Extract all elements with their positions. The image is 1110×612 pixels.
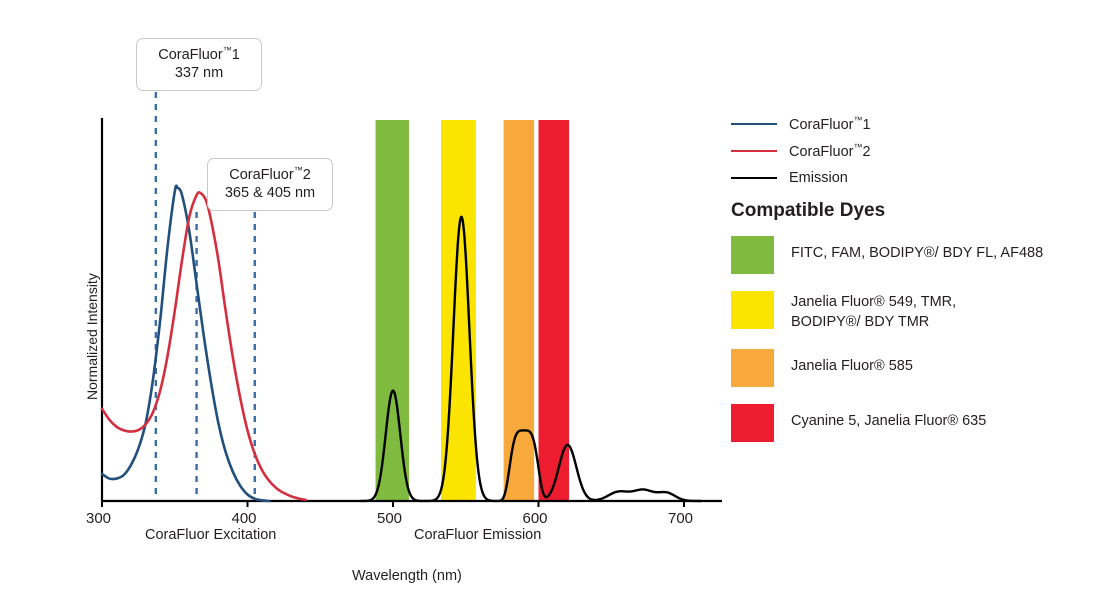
dye-item-label: Cyanine 5, Janelia Fluor® 635: [791, 404, 986, 432]
legend-line-swatch: [731, 123, 777, 125]
dye-color-swatch: [731, 404, 774, 442]
x-tick-label-700: 700: [668, 510, 693, 527]
x-tick-label-300: 300: [86, 510, 111, 527]
excitation-region-label: CoraFluor Excitation: [145, 527, 276, 543]
x-tick-label-600: 600: [523, 510, 548, 527]
dye-color-swatch: [731, 349, 774, 387]
legend-item-2: Emission: [731, 164, 1101, 191]
x-axis-label: Wavelength (nm): [352, 568, 462, 584]
dye-color-swatch: [731, 291, 774, 329]
series-legend: CoraFluor™1CoraFluor™2Emission: [731, 110, 1101, 191]
dye-item-1: Janelia Fluor® 549, TMR,BODIPY®/ BDY TMR: [731, 291, 1106, 332]
legend-item-0: CoraFluor™1: [731, 110, 1101, 137]
annotation-cora2-line2: 365 & 405 nm: [218, 184, 322, 203]
compatible-dyes-list: FITC, FAM, BODIPY®/ BDY FL, AF488Janelia…: [731, 236, 1106, 459]
compatible-dyes-title: Compatible Dyes: [731, 200, 885, 222]
annotation-cora2-line1: CoraFluor™2: [229, 167, 311, 183]
curve-corafluor2: [102, 192, 306, 500]
dye-item-3: Cyanine 5, Janelia Fluor® 635: [731, 404, 1106, 442]
orange-band: [504, 120, 535, 501]
legend-line-swatch: [731, 150, 777, 152]
legend-item-1: CoraFluor™2: [731, 137, 1101, 164]
x-tick-label-500: 500: [377, 510, 402, 527]
annotation-cora2: CoraFluor™2 365 & 405 nm: [207, 158, 333, 211]
dye-item-label: Janelia Fluor® 549, TMR,BODIPY®/ BDY TMR: [791, 291, 956, 332]
legend-item-label: Emission: [789, 170, 848, 186]
marker-lines: [156, 92, 255, 501]
dye-item-label: Janelia Fluor® 585: [791, 349, 913, 377]
annotation-cora1-line1: CoraFluor™1: [158, 47, 240, 63]
legend-item-label: CoraFluor™2: [789, 142, 871, 160]
dye-color-swatch: [731, 236, 774, 274]
legend-item-label: CoraFluor™1: [789, 115, 871, 133]
legend-line-swatch: [731, 177, 777, 179]
y-axis-label: Normalized Intensity: [84, 273, 100, 400]
green-band: [376, 120, 409, 501]
red-band: [539, 120, 570, 501]
x-tick-label-400: 400: [232, 510, 257, 527]
dye-item-label: FITC, FAM, BODIPY®/ BDY FL, AF488: [791, 236, 1043, 264]
annotation-cora1: CoraFluor™1 337 nm: [136, 38, 262, 91]
chart-page: CoraFluor™1 337 nm CoraFluor™2 365 & 405…: [0, 0, 1110, 612]
annotation-cora1-line2: 337 nm: [147, 64, 251, 83]
dye-item-0: FITC, FAM, BODIPY®/ BDY FL, AF488: [731, 236, 1106, 274]
emission-region-label: CoraFluor Emission: [414, 527, 541, 543]
dye-item-2: Janelia Fluor® 585: [731, 349, 1106, 387]
dye-bands: [376, 120, 570, 501]
